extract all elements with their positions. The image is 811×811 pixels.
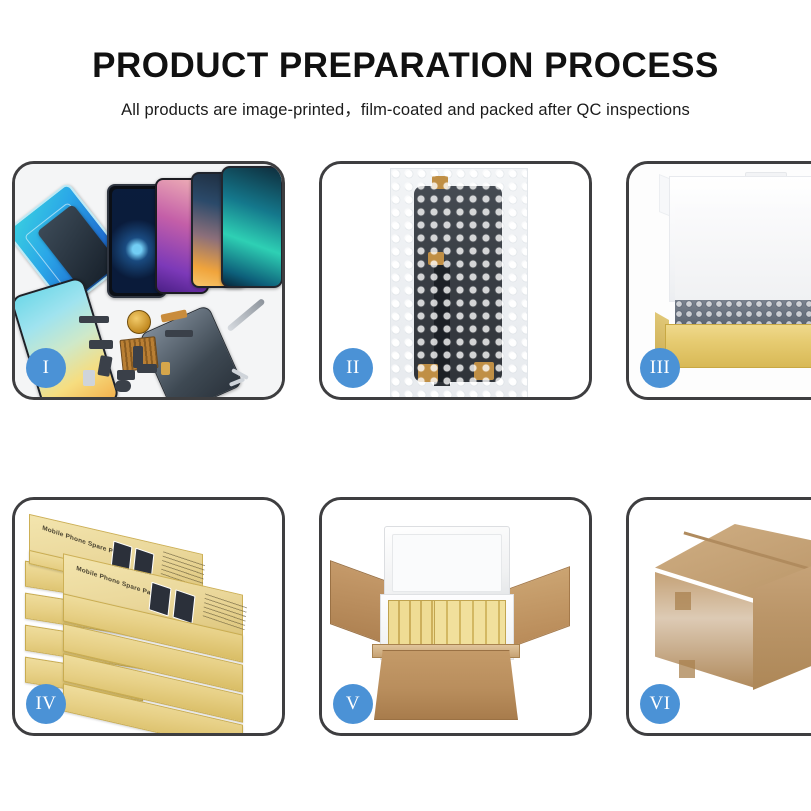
connector-part-icon bbox=[117, 370, 135, 380]
step-badge-5: V bbox=[333, 684, 373, 724]
screen-assembly-icon bbox=[414, 186, 502, 382]
box-spec-lines bbox=[203, 591, 247, 630]
gold-contact-pad-icon bbox=[474, 362, 494, 380]
green-gradient-phone-icon bbox=[221, 166, 282, 288]
connector-part-icon bbox=[161, 362, 170, 375]
step-panel-6[interactable]: VI Sealed and taped brown shipping carto… bbox=[626, 497, 811, 736]
page-title: PRODUCT PREPARATION PROCESS bbox=[0, 0, 811, 85]
step-panel-3[interactable]: III Items placed into open gold tray box… bbox=[626, 161, 811, 400]
connector-part-icon bbox=[83, 370, 95, 386]
connector-part-icon bbox=[165, 330, 193, 337]
connector-part-icon bbox=[115, 380, 131, 392]
product-preparation-infographic: PRODUCT PREPARATION PROCESS All products… bbox=[0, 0, 811, 811]
box-inner-wall-icon bbox=[675, 204, 811, 300]
header: PRODUCT PREPARATION PROCESS All products… bbox=[0, 0, 811, 120]
step-badge-2: II bbox=[333, 348, 373, 388]
steps-grid: I Mobile phone screens, displays and spa… bbox=[12, 161, 799, 738]
foam-box-lid-icon bbox=[384, 526, 510, 600]
step-panel-1[interactable]: I Mobile phone screens, displays and spa… bbox=[12, 161, 285, 400]
gold-contact-pad-icon bbox=[432, 176, 448, 189]
step-panel-5[interactable]: V Gold boxes loaded into foam-lined ship… bbox=[319, 497, 592, 736]
step-panel-2[interactable]: II Screen assembly sealed in bubble wrap bbox=[319, 161, 592, 400]
gold-contact-pad-icon bbox=[428, 252, 444, 265]
step-badge-3: III bbox=[640, 348, 680, 388]
connector-part-icon bbox=[133, 346, 143, 368]
connector-part-icon bbox=[89, 340, 113, 349]
connector-part-icon bbox=[79, 316, 109, 323]
step-badge-1: I bbox=[26, 348, 66, 388]
speaker-module-icon bbox=[127, 310, 151, 334]
packing-tape-icon bbox=[675, 592, 691, 610]
carton-front-icon bbox=[374, 650, 518, 720]
packing-tape-icon bbox=[679, 660, 695, 678]
gold-tray-base-icon bbox=[665, 324, 811, 368]
gold-contact-pad-icon bbox=[418, 364, 438, 382]
step-badge-4: IV bbox=[26, 684, 66, 724]
box-window-image bbox=[149, 582, 172, 617]
step-panel-4[interactable]: Mobile Phone Spare Parts Mobile Phone Sp… bbox=[12, 497, 285, 736]
step-badge-6: VI bbox=[640, 684, 680, 724]
page-subtitle: All products are image-printed，film-coat… bbox=[0, 85, 811, 120]
